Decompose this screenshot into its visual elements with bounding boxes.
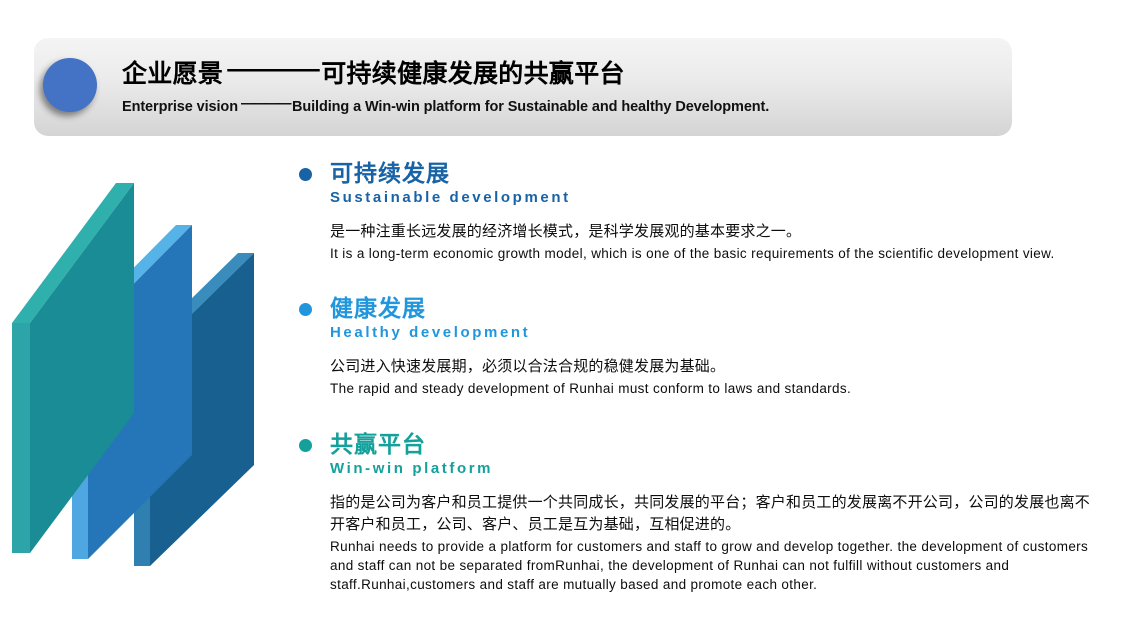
section-win-win-platform: 共赢平台 Win-win platform 指的是公司为客户和员工提供一个共同成… [296, 431, 1096, 594]
section-2-heading-group: 健康发展 Healthy development [296, 295, 1096, 343]
section-3-body-en: Runhai needs to provide a platform for c… [296, 537, 1096, 594]
section-1-body-cn: 是一种注重长远发展的经济增长模式，是科学发展观的基本要求之一。 [296, 221, 1096, 243]
section-1-bullet-icon [299, 168, 312, 181]
section-1-heading-en: Sustainable development [330, 187, 1096, 208]
section-2-heading-cn: 健康发展 [330, 295, 1096, 321]
banner-title-cn-left: 企业愿景 [122, 60, 223, 88]
section-3-heading-en: Win-win platform [330, 458, 1096, 479]
banner-title: 企业愿景————可持续健康发展的共赢平台 [122, 54, 982, 89]
section-3-heading-group: 共赢平台 Win-win platform [296, 431, 1096, 479]
banner-subtitle-en-left: Enterprise vision [122, 99, 238, 115]
banner-subtitle-dash: ———— [238, 94, 292, 114]
banner-text-group: 企业愿景————可持续健康发展的共赢平台 Enterprise vision——… [122, 54, 982, 117]
banner-subtitle: Enterprise vision————Building a Win-win … [122, 94, 982, 117]
three-layer-slabs-graphic [6, 155, 296, 585]
banner-title-cn-right: 可持续健康发展的共赢平台 [321, 60, 625, 88]
vision-sections: 可持续发展 Sustainable development 是一种注重长远发展的… [296, 160, 1096, 594]
section-3-bullet-icon [299, 439, 312, 452]
section-1-heading-cn: 可持续发展 [330, 160, 1096, 186]
section-1-body-en: It is a long-term economic growth model,… [296, 244, 1096, 263]
section-2-body-cn: 公司进入快速发展期，必须以合法合规的稳健发展为基础。 [296, 356, 1096, 378]
banner-title-dash: ———— [223, 54, 321, 84]
section-3-heading-cn: 共赢平台 [330, 431, 1096, 457]
banner-circle-decoration [43, 58, 97, 112]
section-sustainable-development: 可持续发展 Sustainable development 是一种注重长远发展的… [296, 160, 1096, 263]
section-2-body-en: The rapid and steady development of Runh… [296, 379, 1096, 398]
section-3-body-cn: 指的是公司为客户和员工提供一个共同成长，共同发展的平台；客户和员工的发展离不开公… [296, 492, 1096, 536]
section-healthy-development: 健康发展 Healthy development 公司进入快速发展期，必须以合法… [296, 295, 1096, 398]
section-1-heading-group: 可持续发展 Sustainable development [296, 160, 1096, 208]
banner-subtitle-en-right: Building a Win-win platform for Sustaina… [292, 99, 769, 115]
section-2-heading-en: Healthy development [330, 322, 1096, 343]
section-2-bullet-icon [299, 303, 312, 316]
